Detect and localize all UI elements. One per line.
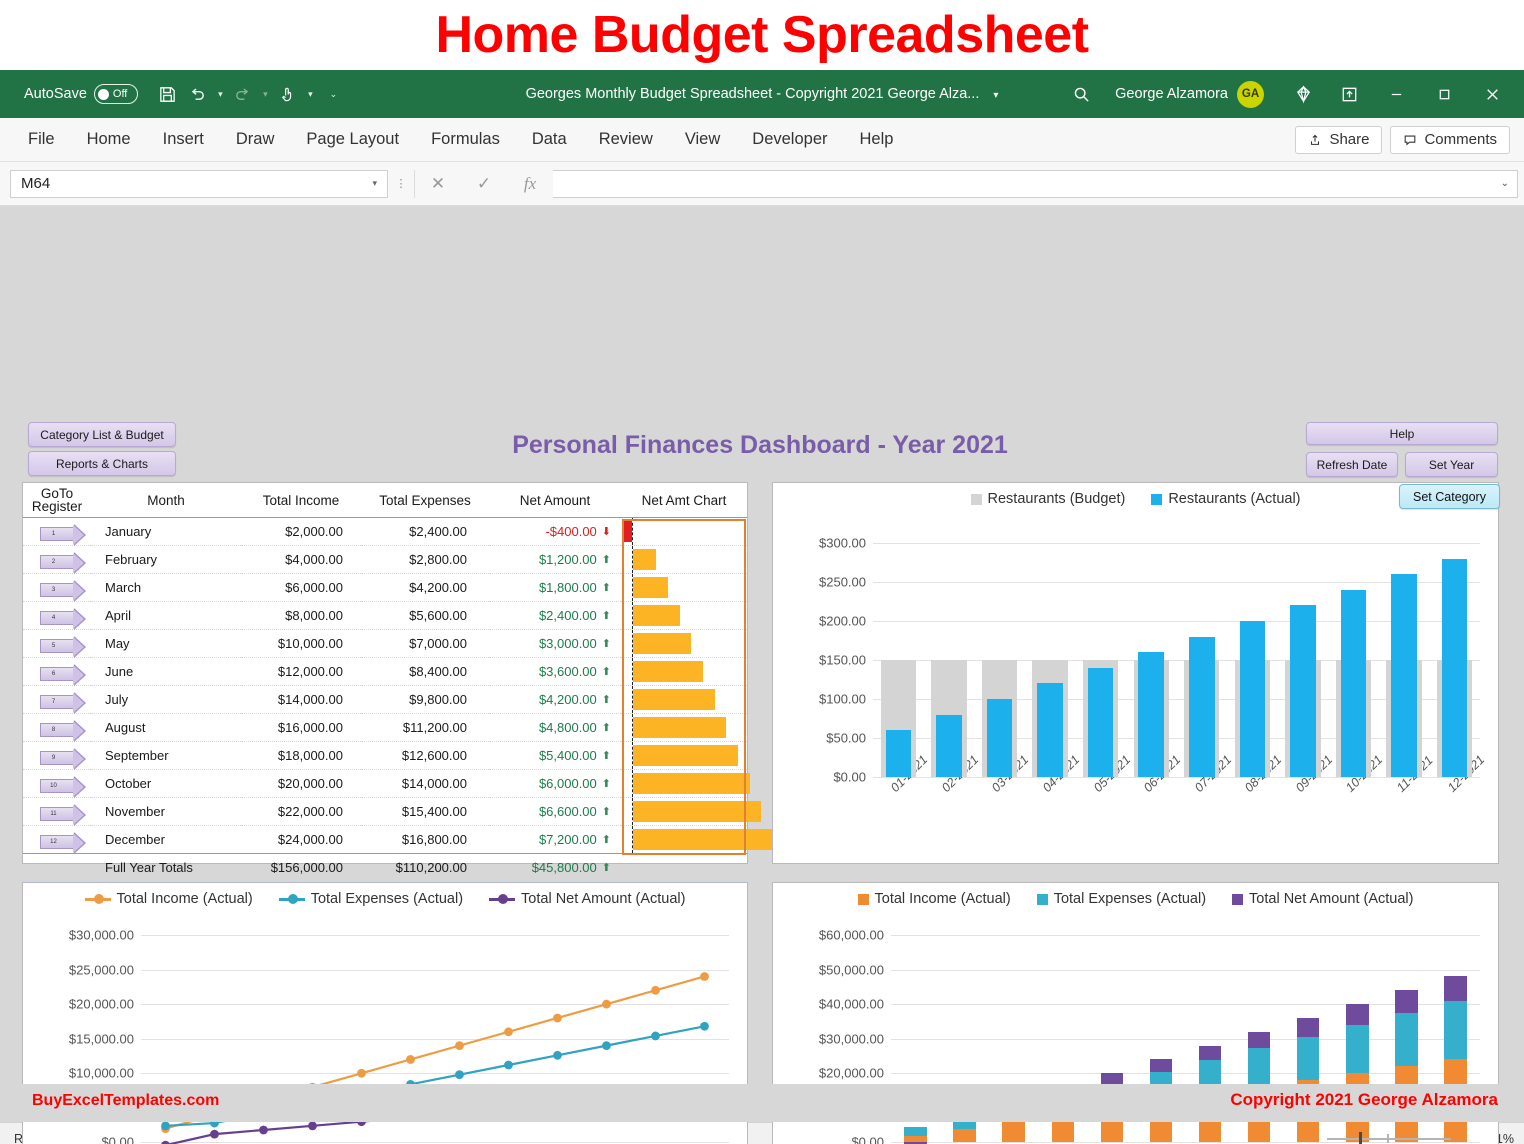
table-row: 7July$14,000.00$9,800.00$4,200.00⬆ (23, 686, 747, 714)
y-axis-tick-label: $30,000.00 (69, 928, 141, 943)
goto-register-arrow-icon[interactable]: 1 (40, 527, 74, 541)
ribbon-tab-home[interactable]: Home (71, 118, 147, 162)
minimize-button[interactable] (1372, 74, 1420, 114)
zoom-control[interactable]: − + (1301, 1132, 1476, 1144)
goto-register-cell[interactable]: 2 (23, 546, 91, 574)
column-header-net-amount: Net Amount (489, 483, 621, 518)
ribbon-tab-insert[interactable]: Insert (147, 118, 220, 162)
trend-up-icon: ⬆ (602, 805, 611, 818)
line-marker (700, 972, 709, 981)
ribbon-tab-data[interactable]: Data (516, 118, 583, 162)
legend-item: Total Expenses (Actual) (1037, 891, 1206, 907)
y-axis-tick-label: $50.00 (826, 731, 873, 746)
goto-register-arrow-icon[interactable]: 2 (40, 555, 74, 569)
redo-icon[interactable] (229, 80, 257, 108)
autosave-state-label: Off (113, 88, 127, 100)
net-amt-chart-cell (621, 630, 747, 658)
net-amt-chart-cell (621, 770, 747, 798)
column-header-goto: GoTo Register (23, 483, 91, 518)
restaurants-chart-panel[interactable]: Restaurants (Budget)Restaurants (Actual)… (772, 482, 1499, 864)
line-marker (210, 1130, 219, 1139)
table-row: 6June$12,000.00$8,400.00$3,600.00⬆ (23, 658, 747, 686)
total-expenses-cell: $14,000.00 (361, 770, 489, 798)
line-marker (651, 986, 660, 995)
bar-actual (1138, 652, 1163, 777)
bar-group (1235, 543, 1270, 777)
month-cell: July (91, 686, 241, 714)
net-amount-data-bar (633, 661, 703, 682)
legend-item: Restaurants (Actual) (1151, 491, 1300, 507)
comments-button[interactable]: Comments (1390, 126, 1510, 154)
net-amount-data-bar (633, 773, 750, 794)
net-amt-chart-cell (621, 546, 747, 574)
total-expenses-cell: $12,600.00 (361, 742, 489, 770)
month-cell: November (91, 798, 241, 826)
stacked-bar-segment (1199, 1046, 1222, 1061)
bar-actual (987, 699, 1012, 777)
restaurants-plot-area: $300.00$250.00$200.00$150.00$100.00$50.0… (873, 543, 1480, 777)
goto-line2: Register (32, 499, 82, 514)
goto-register-cell[interactable]: 6 (23, 658, 91, 686)
table-row: 11November$22,000.00$15,400.00$6,600.00⬆ (23, 798, 747, 826)
net-amt-chart-cell (621, 798, 747, 826)
bar-group (881, 543, 916, 777)
totals-expenses-cell: $110,200.00 (361, 854, 489, 881)
net-amount-data-bar (633, 801, 761, 822)
set-category-button[interactable]: Set Category (1399, 484, 1500, 509)
totals-stacked-chart-legend: Total Income (Actual)Total Expenses (Act… (773, 883, 1498, 907)
stacked-bar-segment (1395, 990, 1418, 1013)
formula-bar-grip[interactable]: ⋮ (388, 181, 414, 187)
y-axis-tick-label: $15,000.00 (69, 1031, 141, 1046)
line-marker (259, 1126, 268, 1135)
stacked-bar-segment (904, 1127, 927, 1135)
legend-color-swatch (858, 894, 869, 905)
ribbon-tab-draw[interactable]: Draw (220, 118, 291, 162)
line-marker (504, 1027, 513, 1036)
customize-qat-icon[interactable]: ⌄ (327, 81, 340, 107)
bar-actual (936, 715, 961, 777)
line-marker (553, 1051, 562, 1060)
net-amount-cell: $1,800.00⬆ (489, 574, 621, 602)
stacked-bar-segment (1346, 1025, 1369, 1073)
goto-register-cell[interactable]: 1 (23, 518, 91, 546)
goto-register-cell[interactable]: 3 (23, 574, 91, 602)
net-amount-data-bar (633, 829, 773, 850)
trend-up-icon: ⬆ (602, 693, 611, 706)
totals-label-cell: Full Year Totals (91, 854, 241, 881)
y-axis-tick-label: $50,000.00 (819, 962, 891, 977)
document-title-dropdown-icon[interactable]: ▾ (993, 90, 998, 101)
net-amount-cell: -$400.00⬇ (489, 518, 621, 546)
table-row: 3March$6,000.00$4,200.00$1,800.00⬆ (23, 574, 747, 602)
goto-register-cell[interactable]: 12 (23, 826, 91, 854)
total-income-cell: $20,000.00 (241, 770, 361, 798)
gridline (891, 1004, 1480, 1005)
name-box-value: M64 (21, 175, 50, 192)
ribbon-tab-help[interactable]: Help (844, 118, 910, 162)
line-marker (651, 1032, 660, 1041)
diamond-icon[interactable] (1280, 77, 1326, 111)
touch-mode-icon[interactable] (274, 80, 302, 108)
y-axis-tick-label: $40,000.00 (819, 997, 891, 1012)
legend-color-swatch (971, 494, 982, 505)
total-expenses-cell: $4,200.00 (361, 574, 489, 602)
banner-title: Home Budget Spreadsheet (435, 5, 1088, 65)
ribbon-tab-review[interactable]: Review (583, 118, 669, 162)
legend-line-marker (279, 898, 305, 901)
table-row: 12December$24,000.00$16,800.00$7,200.00⬆ (23, 826, 747, 854)
total-income-cell: $22,000.00 (241, 798, 361, 826)
line-marker (455, 1041, 464, 1050)
total-income-cell: $14,000.00 (241, 686, 361, 714)
ribbon-tab-page-layout[interactable]: Page Layout (290, 118, 415, 162)
legend-color-swatch (1232, 894, 1243, 905)
bar-group (1386, 543, 1421, 777)
zoom-slider[interactable] (1327, 1132, 1451, 1144)
trend-up-icon: ⬆ (602, 833, 611, 846)
legend-line-marker (85, 898, 111, 901)
y-axis-tick-label: $10,000.00 (69, 1066, 141, 1081)
bar-group (1184, 543, 1219, 777)
net-amount-cell: $3,600.00⬆ (489, 658, 621, 686)
account-name: George Alzamora (1115, 86, 1228, 102)
gridline (891, 970, 1480, 971)
close-button[interactable] (1468, 74, 1516, 114)
category-list-button[interactable]: Category List & Budget (28, 422, 176, 447)
name-box[interactable]: M64 ▾ (10, 170, 388, 198)
net-amount-cell: $6,000.00⬆ (489, 770, 621, 798)
undo-dropdown-icon[interactable]: ▾ (214, 81, 227, 107)
column-header-total-expenses: Total Expenses (361, 483, 489, 518)
net-amount-data-bar (633, 745, 738, 766)
total-income-cell: $4,000.00 (241, 546, 361, 574)
y-axis-tick-label: $150.00 (819, 653, 873, 668)
bar-actual (1290, 605, 1315, 777)
table-row: 8August$16,000.00$11,200.00$4,800.00⬆ (23, 714, 747, 742)
net-amount-data-bar (633, 717, 726, 738)
trend-up-icon: ⬆ (602, 721, 611, 734)
total-expenses-cell: $2,800.00 (361, 546, 489, 574)
goto-register-cell[interactable]: 9 (23, 742, 91, 770)
net-amount-data-bar (633, 577, 668, 598)
y-axis-tick-label: $250.00 (819, 575, 873, 590)
total-expenses-cell: $9,800.00 (361, 686, 489, 714)
totals-spacer-cell (23, 854, 91, 881)
bar-group (982, 543, 1017, 777)
goto-register-cell[interactable]: 10 (23, 770, 91, 798)
expand-formula-bar-icon[interactable]: ⌄ (1501, 178, 1509, 189)
ribbon-actions: Share Comments (1295, 126, 1524, 154)
autosave-toggle-knob (98, 89, 109, 100)
net-amount-cell: $7,200.00⬆ (489, 826, 621, 854)
legend-item: Total Net Amount (Actual) (489, 891, 685, 907)
line-marker (602, 1041, 611, 1050)
net-amt-chart-cell (621, 686, 747, 714)
month-cell: May (91, 630, 241, 658)
zoom-slider-thumb[interactable] (1359, 1132, 1362, 1144)
reports-charts-button[interactable]: Reports & Charts (28, 451, 176, 476)
net-amt-chart-cell (621, 826, 747, 854)
total-income-cell: $12,000.00 (241, 658, 361, 686)
totals-net-cell: $45,800.00⬆ (489, 854, 621, 881)
net-amt-chart-cell (621, 714, 747, 742)
bar-actual (1189, 637, 1214, 777)
goto-register-cell[interactable]: 7 (23, 686, 91, 714)
month-cell: March (91, 574, 241, 602)
bar-group (1032, 543, 1067, 777)
search-icon[interactable] (1053, 77, 1109, 111)
footer-copyright: Copyright 2021 George Alzamora (1230, 1090, 1498, 1110)
bar-group (931, 543, 966, 777)
table-row: 4April$8,000.00$5,600.00$2,400.00⬆ (23, 602, 747, 630)
net-amount-cell: $5,400.00⬆ (489, 742, 621, 770)
legend-color-swatch (1037, 894, 1048, 905)
column-header-total-income: Total Income (241, 483, 361, 518)
insert-function-icon[interactable]: fx (507, 170, 553, 198)
goto-register-arrow-icon[interactable]: 4 (40, 611, 74, 625)
bar-group (1134, 543, 1169, 777)
month-cell: December (91, 826, 241, 854)
quick-access-toolbar: ▾ ▾ ▾ ⌄ (154, 80, 340, 108)
bar-group (1083, 543, 1118, 777)
net-amount-cell: $6,600.00⬆ (489, 798, 621, 826)
maximize-button[interactable] (1420, 74, 1468, 114)
document-title: Georges Monthly Budget Spreadsheet - Cop… (526, 86, 980, 102)
gridline (891, 935, 1480, 936)
goto-register-arrow-icon[interactable]: 9 (40, 751, 74, 765)
legend-label: Total Net Amount (Actual) (1249, 891, 1413, 907)
line-marker (700, 1022, 709, 1031)
y-axis-tick-label: $25,000.00 (69, 962, 141, 977)
y-axis-tick-label: $20,000.00 (69, 997, 141, 1012)
goto-register-cell[interactable]: 5 (23, 630, 91, 658)
touch-dropdown-icon[interactable]: ▾ (304, 81, 317, 107)
y-axis-tick-label: $0.00 (851, 1135, 891, 1144)
y-axis-tick-label: $20,000.00 (819, 1066, 891, 1081)
stacked-bar-segment (1101, 1073, 1124, 1083)
line-marker (357, 1069, 366, 1078)
goto-register-arrow-icon[interactable]: 8 (40, 723, 74, 737)
trend-up-icon: ⬆ (602, 749, 611, 762)
total-expenses-cell: $16,800.00 (361, 826, 489, 854)
ribbon-tab-file[interactable]: File (12, 118, 71, 162)
trend-up-icon: ⬆ (602, 581, 611, 594)
legend-item: Total Net Amount (Actual) (1232, 891, 1413, 907)
net-amount-data-bar (633, 605, 680, 626)
bar-actual (1037, 683, 1062, 777)
table-totals-row: Full Year Totals$156,000.00$110,200.00$4… (23, 854, 747, 881)
restaurants-chart-legend: Restaurants (Budget)Restaurants (Actual) (773, 483, 1498, 507)
table-row: 2February$4,000.00$2,800.00$1,200.00⬆ (23, 546, 747, 574)
zoom-slider-track (1327, 1138, 1451, 1140)
total-expenses-cell: $7,000.00 (361, 630, 489, 658)
line-marker (602, 1000, 611, 1009)
total-income-cell: $2,000.00 (241, 518, 361, 546)
ribbon-tabs: FileHomeInsertDrawPage LayoutFormulasDat… (0, 118, 909, 162)
y-axis-tick-label: $300.00 (819, 536, 873, 551)
line-marker (455, 1070, 464, 1079)
stacked-bar-segment (1002, 1122, 1025, 1143)
net-amount-data-bar (633, 689, 715, 710)
zoom-slider-midpoint (1387, 1134, 1389, 1143)
stacked-bar-segment (953, 1129, 976, 1143)
goto-register-cell[interactable]: 8 (23, 714, 91, 742)
y-axis-tick-label: $0.00 (101, 1135, 141, 1144)
goto-register-cell[interactable]: 4 (23, 602, 91, 630)
goto-register-arrow-icon[interactable]: 10 (40, 779, 74, 793)
trend-up-icon: ⬆ (602, 553, 611, 566)
gridline (891, 1039, 1480, 1040)
stacked-bar-segment (1395, 1013, 1418, 1066)
y-axis-tick-label: $100.00 (819, 692, 873, 707)
sheet-footer: BuyExcelTemplates.com Copyright 2021 Geo… (0, 1084, 1524, 1122)
line-marker (553, 1014, 562, 1023)
table-row: 10October$20,000.00$14,000.00$6,000.00⬆ (23, 770, 747, 798)
bar-actual (1442, 559, 1467, 777)
trend-up-icon: ⬆ (602, 665, 611, 678)
total-income-cell: $6,000.00 (241, 574, 361, 602)
bar-actual (1341, 590, 1366, 777)
total-income-cell: $24,000.00 (241, 826, 361, 854)
legend-label: Total Income (Actual) (875, 891, 1011, 907)
line-marker (161, 1121, 170, 1130)
net-amt-chart-cell (621, 518, 747, 546)
chevron-down-icon[interactable]: ▾ (372, 178, 377, 189)
goto-register-arrow-icon[interactable]: 12 (40, 835, 74, 849)
month-cell: September (91, 742, 241, 770)
ribbon-tab-bar: FileHomeInsertDrawPage LayoutFormulasDat… (0, 118, 1524, 162)
ribbon-tab-developer[interactable]: Developer (736, 118, 843, 162)
share-icon (1308, 133, 1322, 147)
net-amt-chart-cell (621, 602, 747, 630)
dashboard-title: Personal Finances Dashboard - Year 2021 (340, 431, 1180, 460)
autosave-label: AutoSave (24, 86, 87, 102)
stacked-bar-segment (1444, 976, 1467, 1001)
line-marker (406, 1055, 415, 1064)
net-amount-data-bar (633, 633, 691, 654)
trend-up-icon: ⬆ (602, 777, 611, 790)
title-bar-right: George Alzamora GA (1053, 74, 1524, 114)
net-amount-cell: $1,200.00⬆ (489, 546, 621, 574)
stacked-bar-segment (1150, 1059, 1173, 1071)
bar-group (1437, 543, 1472, 777)
stacked-bar-segment (904, 1136, 927, 1143)
set-year-button[interactable]: Set Year (1405, 452, 1498, 477)
goto-register-cell[interactable]: 11 (23, 798, 91, 826)
total-expenses-cell: $8,400.00 (361, 658, 489, 686)
stacked-bar-segment (1444, 1001, 1467, 1059)
y-axis-tick-label: $0.00 (833, 770, 873, 785)
net-amount-cell: $4,800.00⬆ (489, 714, 621, 742)
monthly-summary-table: GoTo Register Month Total Income Total E… (23, 483, 747, 881)
share-button[interactable]: Share (1295, 126, 1382, 154)
totals-line-chart-legend: Total Income (Actual)Total Expenses (Act… (23, 883, 747, 907)
formula-bar: M64 ▾ ⋮ ✕ ✓ fx ⌄ (0, 162, 1524, 206)
column-header-month: Month (91, 483, 241, 518)
month-cell: June (91, 658, 241, 686)
month-cell: February (91, 546, 241, 574)
enter-icon[interactable]: ✓ (461, 170, 507, 198)
autosave-toggle[interactable]: Off (94, 84, 138, 104)
cancel-icon[interactable]: ✕ (415, 170, 461, 198)
stacked-bar-segment (1248, 1048, 1271, 1087)
totals-chart-cell (621, 854, 747, 881)
ribbon-tab-view[interactable]: View (669, 118, 736, 162)
goto-register-arrow-icon[interactable]: 3 (40, 583, 74, 597)
total-expenses-cell: $15,400.00 (361, 798, 489, 826)
total-income-cell: $18,000.00 (241, 742, 361, 770)
legend-label: Total Income (Actual) (117, 891, 253, 907)
bar-group (1285, 543, 1320, 777)
stacked-bar-segment (1297, 1018, 1320, 1037)
total-expenses-cell: $11,200.00 (361, 714, 489, 742)
table-row: 1January$2,000.00$2,400.00-$400.00⬇ (23, 518, 747, 546)
net-amount-cell: $4,200.00⬆ (489, 686, 621, 714)
avatar: GA (1237, 81, 1264, 108)
bar-actual (886, 730, 911, 777)
legend-item: Total Income (Actual) (858, 891, 1011, 907)
refresh-date-button[interactable]: Refresh Date (1306, 452, 1398, 477)
undo-icon[interactable] (184, 80, 212, 108)
column-header-net-amt-chart: Net Amt Chart (621, 483, 747, 518)
stacked-bar-segment (1248, 1032, 1271, 1049)
total-expenses-cell: $5,600.00 (361, 602, 489, 630)
total-income-cell: $16,000.00 (241, 714, 361, 742)
month-cell: April (91, 602, 241, 630)
y-axis-tick-label: $60,000.00 (819, 928, 891, 943)
legend-color-swatch (1151, 494, 1162, 505)
stacked-bar-segment (1297, 1037, 1320, 1081)
autosave-control[interactable]: AutoSave Off (24, 84, 138, 104)
legend-line-marker (489, 898, 515, 901)
bar-actual (1240, 621, 1265, 777)
stacked-bar-segment (1346, 1004, 1369, 1025)
account-chip[interactable]: George Alzamora GA (1115, 81, 1264, 108)
monthly-summary-table-panel: GoTo Register Month Total Income Total E… (22, 482, 748, 864)
comments-label: Comments (1424, 131, 1497, 148)
goto-register-arrow-icon[interactable]: 11 (40, 807, 74, 821)
bar-actual (1391, 574, 1416, 777)
redo-dropdown-icon[interactable]: ▾ (259, 81, 272, 107)
ribbon-display-options-icon[interactable] (1326, 77, 1372, 111)
net-amount-data-bar (624, 521, 632, 542)
net-amt-chart-cell (621, 742, 747, 770)
net-amt-chart-cell (621, 574, 747, 602)
legend-item: Total Expenses (Actual) (279, 891, 463, 907)
month-cell: August (91, 714, 241, 742)
trend-down-icon: ⬇ (602, 525, 611, 538)
legend-item: Total Income (Actual) (85, 891, 253, 907)
goto-register-arrow-icon[interactable]: 5 (40, 639, 74, 653)
ribbon-tab-formulas[interactable]: Formulas (415, 118, 516, 162)
goto-register-arrow-icon[interactable]: 7 (40, 695, 74, 709)
bar-actual (1088, 668, 1113, 777)
legend-label: Total Expenses (Actual) (311, 891, 463, 907)
totals-income-cell: $156,000.00 (241, 854, 361, 881)
table-header-row: GoTo Register Month Total Income Total E… (23, 483, 747, 518)
save-icon[interactable] (154, 80, 182, 108)
y-axis-tick-label: $200.00 (819, 614, 873, 629)
trend-up-icon: ⬆ (602, 637, 611, 650)
help-button[interactable]: Help (1306, 422, 1498, 445)
formula-input[interactable]: ⌄ (553, 170, 1518, 198)
bar-group (1336, 543, 1371, 777)
goto-register-arrow-icon[interactable]: 6 (40, 667, 74, 681)
excel-title-bar: AutoSave Off ▾ ▾ ▾ ⌄ (0, 70, 1524, 118)
table-body: 1January$2,000.00$2,400.00-$400.00⬇2Febr… (23, 518, 747, 881)
formula-bar-buttons: ✕ ✓ fx (414, 170, 553, 198)
